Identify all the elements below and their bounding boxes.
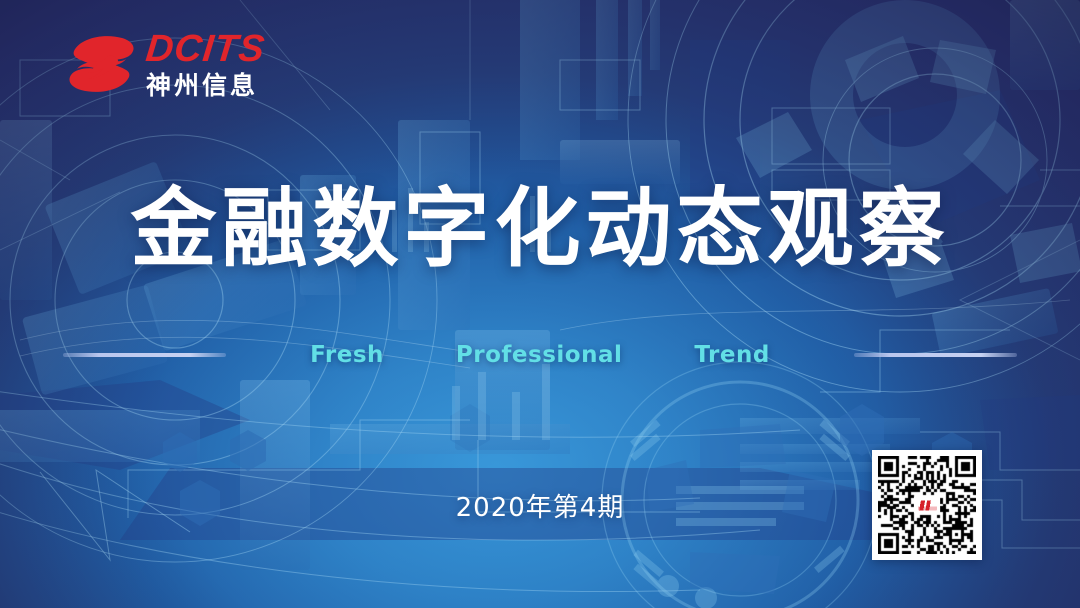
brand-chinese-name: 神州信息 (146, 73, 265, 98)
tagline-rule-right (854, 353, 1017, 357)
tagline-fresh: Fresh (274, 342, 420, 368)
tagline-trend: Trend (658, 342, 805, 368)
brand-logo[interactable]: DCITS 神州信息 (66, 30, 265, 98)
dcits-swirl-logo-icon (66, 33, 138, 95)
dcits-swirl-logo-icon (918, 500, 937, 510)
poster-canvas: DCITS 神州信息 金融数字化动态观察 Fresh Professional … (0, 0, 1080, 608)
tagline-rule-left (63, 353, 226, 357)
tagline-professional: Professional (420, 342, 658, 368)
page-title: 金融数字化动态观察 (0, 186, 1080, 272)
qr-center-logo (914, 497, 940, 514)
brand-wordmark: DCITS (144, 30, 267, 68)
tagline-row: Fresh Professional Trend (0, 340, 1080, 370)
qr-code[interactable] (872, 450, 982, 560)
